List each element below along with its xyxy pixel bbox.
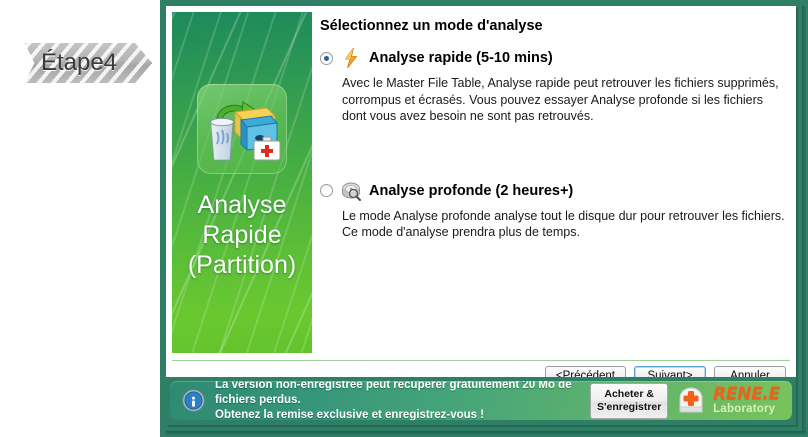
footer-message-line2: Obtenez la remise exclusive et enregistr… (215, 408, 590, 420)
brand-text: RENE.E Laboratory (713, 386, 780, 416)
side-panel-title: Analyse Rapide (Partition) (172, 190, 312, 280)
option-deep-scan-header[interactable]: Analyse profonde (2 heures+) (320, 180, 790, 202)
medical-cross-icon (674, 386, 708, 416)
side-panel-title-line2: Rapide (172, 220, 312, 250)
button-separator (172, 360, 790, 361)
buy-register-button[interactable]: Acheter & S'enregistrer (590, 383, 668, 419)
option-deep-scan[interactable]: Analyse profonde (2 heures+) Le mode Ana… (320, 180, 790, 241)
recycle-bin-folders-first-aid-kit-icon (197, 84, 287, 174)
side-panel-title-line3: (Partition) (172, 250, 312, 280)
side-illustration-panel: Analyse Rapide (Partition) (172, 12, 312, 353)
radio-deep-scan[interactable] (320, 184, 333, 197)
radio-quick-scan[interactable] (320, 52, 333, 65)
option-deep-scan-title: Analyse profonde (2 heures+) (369, 183, 573, 199)
window-frame: Analyse Rapide (Partition) Sélectionnez … (160, 0, 802, 431)
buy-register-line1: Acheter & (604, 388, 654, 401)
window-inner: Analyse Rapide (Partition) Sélectionnez … (166, 6, 796, 425)
brand-subtitle: Laboratory (713, 404, 780, 416)
step-banner: Étape4 (12, 38, 152, 88)
brand-name: RENE.E (713, 386, 780, 403)
window-shadow-right (802, 6, 806, 431)
step-label: Étape4 (12, 49, 146, 77)
option-deep-scan-description: Le mode Analyse profonde analyse tout le… (342, 208, 790, 241)
option-quick-scan[interactable]: Analyse rapide (5-10 mins) Avec le Maste… (320, 47, 790, 125)
client-area: Analyse Rapide (Partition) Sélectionnez … (166, 6, 796, 377)
side-panel-title-line1: Analyse (172, 190, 312, 220)
page-title: Sélectionnez un mode d'analyse (320, 18, 790, 34)
lightning-bolt-icon (340, 47, 362, 69)
footer-message-line1: La version non-enregistrée peut récupére… (215, 381, 590, 408)
content-area: Sélectionnez un mode d'analyse Analyse r… (320, 12, 790, 353)
application-window: Analyse Rapide (Partition) Sélectionnez … (160, 0, 808, 437)
option-quick-scan-title: Analyse rapide (5-10 mins) (369, 50, 553, 66)
footer-bar: La version non-enregistrée peut récupére… (166, 377, 796, 425)
footer-message: La version non-enregistrée peut récupére… (215, 381, 590, 420)
footer-banner: La version non-enregistrée peut récupére… (170, 381, 792, 420)
window-shadow-bottom (166, 431, 806, 435)
brand-logo: RENE.E Laboratory (674, 386, 780, 416)
buy-register-line2: S'enregistrer (597, 401, 661, 414)
option-quick-scan-description: Avec le Master File Table, Analyse rapid… (342, 75, 790, 125)
option-quick-scan-header[interactable]: Analyse rapide (5-10 mins) (320, 47, 790, 69)
hard-disk-magnifier-icon (340, 180, 362, 202)
info-circle-icon (182, 389, 205, 412)
